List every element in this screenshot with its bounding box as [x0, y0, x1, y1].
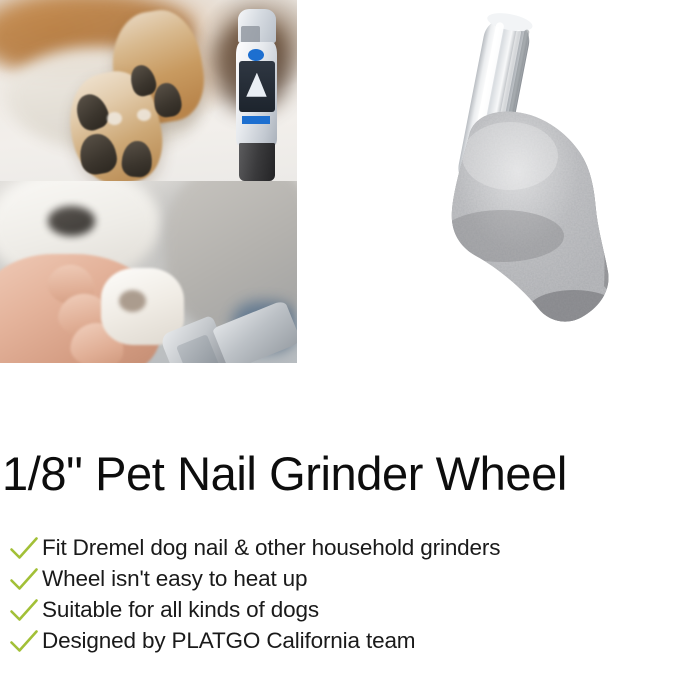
- page-title: 1/8" Pet Nail Grinder Wheel: [2, 449, 679, 499]
- check-icon: [6, 595, 42, 626]
- check-icon: [6, 564, 42, 595]
- tool-blue-stripe: [242, 116, 271, 125]
- paw-pad-marking: [119, 290, 146, 312]
- hand-grinding-paw-photo: [0, 181, 297, 363]
- dog-paws-photo: [0, 0, 297, 181]
- feature-text: Fit Dremel dog nail & other household gr…: [42, 537, 500, 560]
- tool-grip: [239, 143, 275, 181]
- grinder-bit-photo: [352, 4, 672, 356]
- list-item: Suitable for all kinds of dogs: [6, 595, 666, 626]
- feature-text: Suitable for all kinds of dogs: [42, 599, 319, 622]
- list-item: Designed by PLATGO California team: [6, 626, 666, 657]
- feature-list: Fit Dremel dog nail & other household gr…: [6, 533, 666, 657]
- feature-text: Designed by PLATGO California team: [42, 630, 415, 653]
- list-item: Fit Dremel dog nail & other household gr…: [6, 533, 666, 564]
- list-item: Wheel isn't easy to heat up: [6, 564, 666, 595]
- claw-highlight: [107, 112, 122, 125]
- check-icon: [6, 533, 42, 564]
- check-icon: [6, 626, 42, 657]
- tool-cap-window: [241, 26, 260, 43]
- tool-blue-accent: [248, 49, 264, 61]
- blurred-dog-nose: [48, 206, 96, 235]
- product-infographic: 1/8" Pet Nail Grinder Wheel Fit Dremel d…: [0, 0, 679, 673]
- grinder-barrel: [212, 300, 297, 363]
- feature-text: Wheel isn't easy to heat up: [42, 568, 307, 591]
- white-nail-grinder-tool: [235, 9, 280, 181]
